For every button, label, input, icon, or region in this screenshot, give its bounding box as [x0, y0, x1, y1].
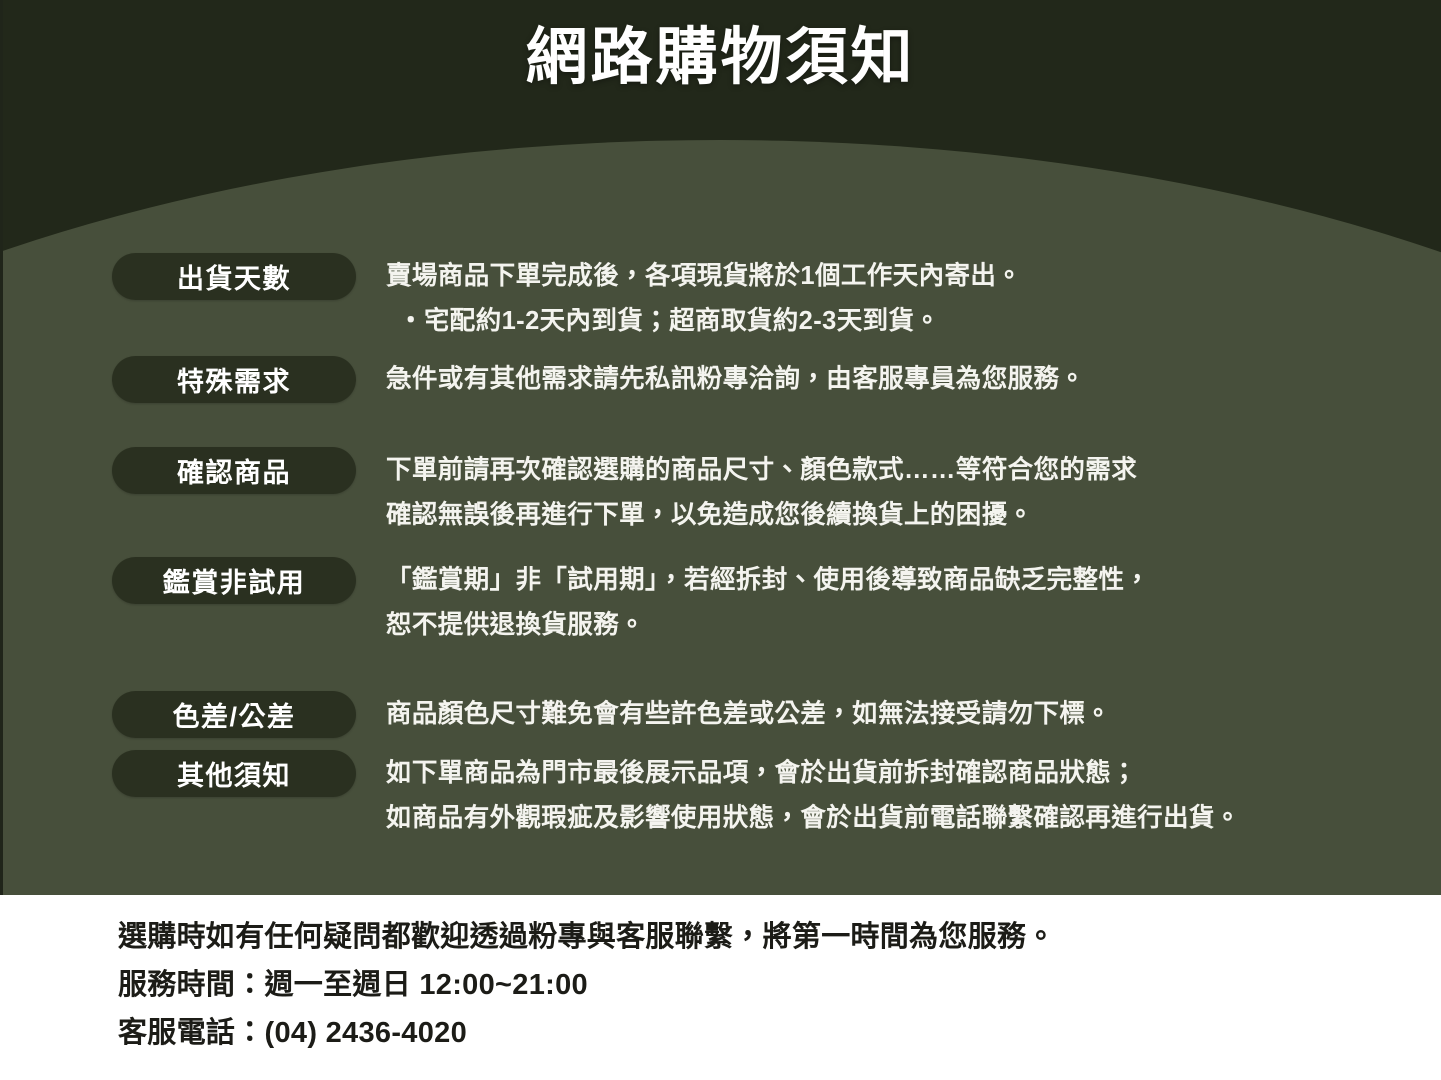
footer-line-phone: 客服電話：(04) 2436-4020: [118, 1009, 1056, 1057]
notice-row-color-tolerance: 色差/公差 商品顏色尺寸難免會有些許色差或公差，如無法接受請勿下標。: [112, 691, 1111, 738]
section-line: 如商品有外觀瑕疵及影響使用狀態，會於出貨前電話聯繫確認再進行出貨。: [386, 796, 1241, 841]
notice-row-other: 其他須知 如下單商品為門市最後展示品項，會於出貨前拆封確認商品狀態； 如商品有外…: [112, 750, 1241, 841]
contact-footer: 選購時如有任何疑問都歡迎透過粉專與客服聯繫，將第一時間為您服務。 服務時間：週一…: [0, 895, 1441, 1080]
section-line: ・宅配約1-2天內到貨；超商取貨約2-3天到貨。: [386, 299, 1022, 344]
section-body-trial-period: 「鑑賞期」非「試用期」，若經拆封、使用後導致商品缺乏完整性， 恕不提供退換貨服務…: [386, 557, 1150, 648]
page-title: 網路購物須知: [0, 22, 1441, 93]
notice-row-shipping: 出貨天數 賣場商品下單完成後，各項現貨將於1個工作天內寄出。 ・宅配約1-2天內…: [112, 253, 1022, 344]
section-line: 急件或有其他需求請先私訊粉專洽詢，由客服專員為您服務。: [386, 357, 1085, 402]
section-line: 確認無誤後再進行下單，以免造成您後續換貨上的困擾。: [386, 493, 1137, 538]
section-line: 如下單商品為門市最後展示品項，會於出貨前拆封確認商品狀態；: [386, 751, 1241, 796]
notice-row-trial-period: 鑑賞非試用 「鑑賞期」非「試用期」，若經拆封、使用後導致商品缺乏完整性， 恕不提…: [112, 557, 1150, 648]
section-line: 恕不提供退換貨服務。: [386, 603, 1150, 648]
footer-line-support: 選購時如有任何疑問都歡迎透過粉專與客服聯繫，將第一時間為您服務。: [118, 913, 1056, 961]
section-label-shipping: 出貨天數: [112, 253, 356, 300]
section-line: 賣場商品下單完成後，各項現貨將於1個工作天內寄出。: [386, 254, 1022, 299]
section-body-shipping: 賣場商品下單完成後，各項現貨將於1個工作天內寄出。 ・宅配約1-2天內到貨；超商…: [386, 253, 1022, 344]
section-line: 商品顏色尺寸難免會有些許色差或公差，如無法接受請勿下標。: [386, 692, 1111, 737]
section-line: 下單前請再次確認選購的商品尺寸、顏色款式……等符合您的需求: [386, 448, 1137, 493]
notice-row-special-request: 特殊需求 急件或有其他需求請先私訊粉專洽詢，由客服專員為您服務。: [112, 356, 1085, 403]
notice-row-confirm-product: 確認商品 下單前請再次確認選購的商品尺寸、顏色款式……等符合您的需求 確認無誤後…: [112, 447, 1137, 538]
section-body-confirm-product: 下單前請再次確認選購的商品尺寸、顏色款式……等符合您的需求 確認無誤後再進行下單…: [386, 447, 1137, 538]
section-label-color-tolerance: 色差/公差: [112, 691, 356, 738]
section-body-color-tolerance: 商品顏色尺寸難免會有些許色差或公差，如無法接受請勿下標。: [386, 691, 1111, 737]
section-label-special-request: 特殊需求: [112, 356, 356, 403]
footer-line-hours: 服務時間：週一至週日 12:00~21:00: [118, 961, 1056, 1009]
section-body-other: 如下單商品為門市最後展示品項，會於出貨前拆封確認商品狀態； 如商品有外觀瑕疵及影…: [386, 750, 1241, 841]
purchase-notice-page: 網路購物須知 出貨天數 賣場商品下單完成後，各項現貨將於1個工作天內寄出。 ・宅…: [0, 0, 1441, 1080]
section-line: 「鑑賞期」非「試用期」，若經拆封、使用後導致商品缺乏完整性，: [386, 558, 1150, 603]
section-label-trial-period: 鑑賞非試用: [112, 557, 356, 604]
section-label-confirm-product: 確認商品: [112, 447, 356, 494]
section-body-special-request: 急件或有其他需求請先私訊粉專洽詢，由客服專員為您服務。: [386, 356, 1085, 402]
section-label-other: 其他須知: [112, 750, 356, 797]
contact-footer-text: 選購時如有任何疑問都歡迎透過粉專與客服聯繫，將第一時間為您服務。 服務時間：週一…: [118, 913, 1056, 1057]
notice-sections: 出貨天數 賣場商品下單完成後，各項現貨將於1個工作天內寄出。 ・宅配約1-2天內…: [0, 0, 1441, 895]
